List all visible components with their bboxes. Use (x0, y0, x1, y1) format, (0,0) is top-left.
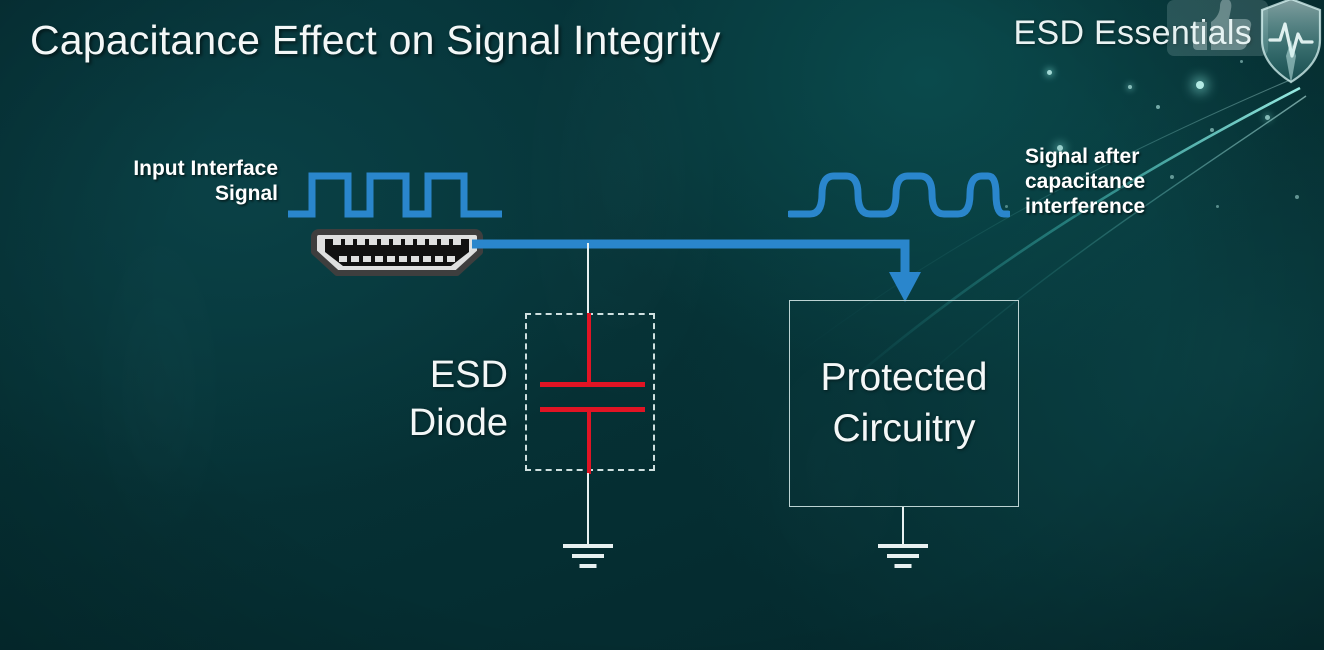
ground-bar (878, 544, 928, 548)
background-vignette (0, 0, 1324, 650)
label-esd-line-2: Diode (330, 400, 508, 448)
label-signal-after-capacitance-interference: Signal after capacitance interference (1025, 145, 1240, 219)
protected-circuitry-label: Protected Circuitry (821, 353, 988, 454)
ground-bar (580, 564, 597, 568)
branch-wire-top (587, 243, 589, 313)
label-output-line-2: capacitance (1025, 170, 1240, 195)
page-title: Capacitance Effect on Signal Integrity (30, 17, 721, 64)
ground-bar (887, 554, 919, 558)
particle-dot (1047, 70, 1052, 75)
label-esd-diode: ESD Diode (330, 352, 508, 447)
shield-pulse-logo (1258, 0, 1324, 88)
arrow-down-icon (889, 272, 921, 302)
label-esd-line-1: ESD (330, 352, 508, 400)
protected-line-1: Protected (821, 353, 988, 404)
waveform-output-rounded (788, 166, 1010, 224)
thumbs-up-watermark-box (1167, 0, 1268, 56)
ground-symbol-icon-esd (563, 544, 613, 570)
label-input-interface-signal: Input Interface Signal (38, 157, 278, 207)
particle-dot (1196, 81, 1204, 89)
thumbs-up-icon (1167, 0, 1268, 56)
ground-symbol-icon-protected (878, 544, 928, 570)
label-output-line-3: interference (1025, 195, 1240, 220)
capacitor-lead-bottom (587, 412, 591, 474)
ground-bar (572, 554, 604, 558)
particle-dot (1156, 105, 1160, 109)
capacitor-plate-upper (540, 382, 645, 387)
capacitor-plate-lower (540, 407, 645, 412)
branch-wire-bottom (587, 473, 589, 545)
label-input-line-1: Input Interface (38, 157, 278, 182)
particle-dot (1128, 85, 1132, 89)
particle-dot (1265, 115, 1270, 120)
signal-trace-arrow (470, 230, 930, 310)
particle-dot (1295, 195, 1299, 199)
label-output-line-1: Signal after (1025, 145, 1240, 170)
particle-dot (1210, 128, 1214, 132)
slide-canvas: Capacitance Effect on Signal Integrity E… (0, 0, 1324, 650)
ground-bar (563, 544, 613, 548)
label-input-line-2: Signal (38, 182, 278, 207)
capacitor-lead-top (587, 313, 591, 385)
hdmi-connector-icon (311, 228, 483, 278)
particle-dot (1240, 60, 1243, 63)
protected-line-2: Circuitry (821, 404, 988, 455)
waveform-input-square (286, 166, 508, 224)
protected-circuitry-box: Protected Circuitry (789, 300, 1019, 507)
ground-bar (895, 564, 912, 568)
protected-ground-wire (902, 507, 904, 545)
